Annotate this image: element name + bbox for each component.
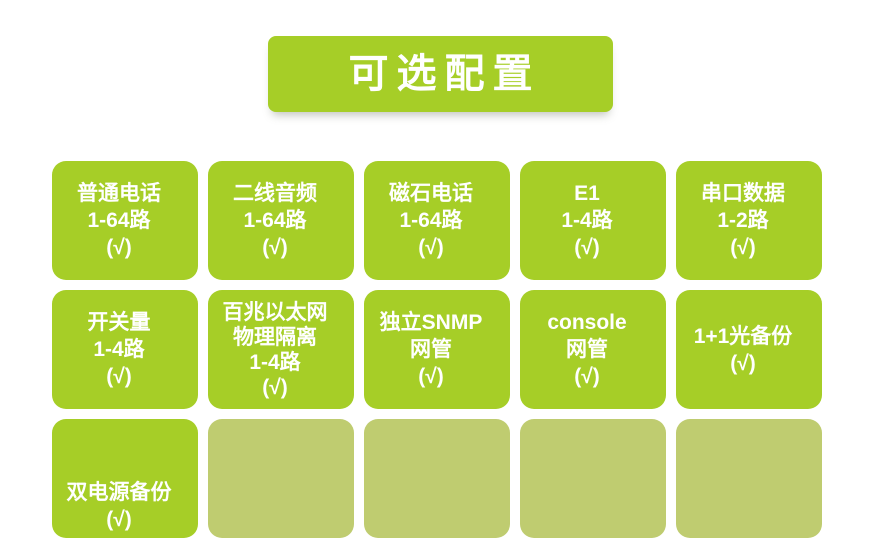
check-mark-icon: (√) [34,506,204,533]
feature-card[interactable]: 磁石电话1-64路(√) [364,161,510,280]
page-title: 可选配置 [341,54,541,94]
feature-card-text: 1+1光备份(√) [658,323,828,377]
feature-card-line: 串口数据 [658,180,828,207]
feature-card-line: 1-4路 [34,336,204,363]
feature-card-line: 独立SNMP [346,309,516,336]
feature-card-text: console网管(√) [502,309,672,390]
feature-card-placeholder [676,419,822,538]
feature-card-text: E11-4路(√) [502,180,672,261]
feature-card-line: 1-64路 [34,207,204,234]
feature-card[interactable]: 独立SNMP网管(√) [364,290,510,409]
check-mark-icon: (√) [658,350,828,377]
feature-card-line: 1-4路 [502,207,672,234]
feature-card-text: 二线音频1-64路(√) [190,180,360,261]
feature-card-text: 开关量1-4路(√) [34,309,204,390]
feature-card-text: 普通电话1-64路(√) [34,180,204,261]
feature-card-line: 开关量 [34,309,204,336]
feature-card-text: 串口数据1-2路(√) [658,180,828,261]
feature-card-row: 普通电话1-64路(√)二线音频1-64路(√)磁石电话1-64路(√)E11-… [52,161,828,280]
feature-card[interactable]: 二线音频1-64路(√) [208,161,354,280]
feature-card-line: 1-64路 [190,207,360,234]
check-mark-icon: (√) [346,234,516,261]
feature-card-grid: 普通电话1-64路(√)二线音频1-64路(√)磁石电话1-64路(√)E11-… [52,161,828,538]
check-mark-icon: (√) [658,234,828,261]
feature-card-placeholder [208,419,354,538]
check-mark-icon: (√) [34,363,204,390]
feature-card-placeholder [364,419,510,538]
check-mark-icon: (√) [502,234,672,261]
feature-card-text: 百兆以太网物理隔离1-4路(√) [190,300,360,400]
feature-card-line: 物理隔离 [190,325,360,350]
feature-card[interactable]: 百兆以太网物理隔离1-4路(√) [208,290,354,409]
feature-card-line: 1-2路 [658,207,828,234]
check-mark-icon: (√) [502,363,672,390]
feature-card[interactable]: E11-4路(√) [520,161,666,280]
check-mark-icon: (√) [190,234,360,261]
feature-card-line: E1 [502,180,672,207]
feature-card[interactable]: 串口数据1-2路(√) [676,161,822,280]
feature-card[interactable]: console网管(√) [520,290,666,409]
feature-card-line: 磁石电话 [346,180,516,207]
check-mark-icon: (√) [34,234,204,261]
feature-card-line: 网管 [346,336,516,363]
feature-card-line: 1+1光备份 [658,323,828,350]
feature-card[interactable]: 双电源备份(√) [52,419,198,538]
feature-card[interactable]: 普通电话1-64路(√) [52,161,198,280]
optional-configuration-page: 可选配置 普通电话1-64路(√)二线音频1-64路(√)磁石电话1-64路(√… [0,0,880,560]
feature-card-text: 双电源备份(√) [34,479,204,533]
banner-plate: 可选配置 [268,36,613,112]
feature-card-row: 双电源备份(√) [52,419,828,538]
feature-card-row: 开关量1-4路(√)百兆以太网物理隔离1-4路(√)独立SNMP网管(√)con… [52,290,828,409]
check-mark-icon: (√) [346,363,516,390]
feature-card-text: 磁石电话1-64路(√) [346,180,516,261]
feature-card-line: 普通电话 [34,180,204,207]
feature-card-placeholder [520,419,666,538]
feature-card-line: 百兆以太网 [190,300,360,325]
feature-card-line: console [502,309,672,336]
feature-card-text: 独立SNMP网管(√) [346,309,516,390]
page-header-banner: 可选配置 [268,36,613,112]
feature-card[interactable]: 1+1光备份(√) [676,290,822,409]
check-mark-icon: (√) [190,375,360,400]
feature-card-line: 二线音频 [190,180,360,207]
feature-card-line: 1-64路 [346,207,516,234]
feature-card-line: 网管 [502,336,672,363]
feature-card-line: 双电源备份 [34,479,204,506]
feature-card[interactable]: 开关量1-4路(√) [52,290,198,409]
feature-card-line: 1-4路 [190,350,360,375]
